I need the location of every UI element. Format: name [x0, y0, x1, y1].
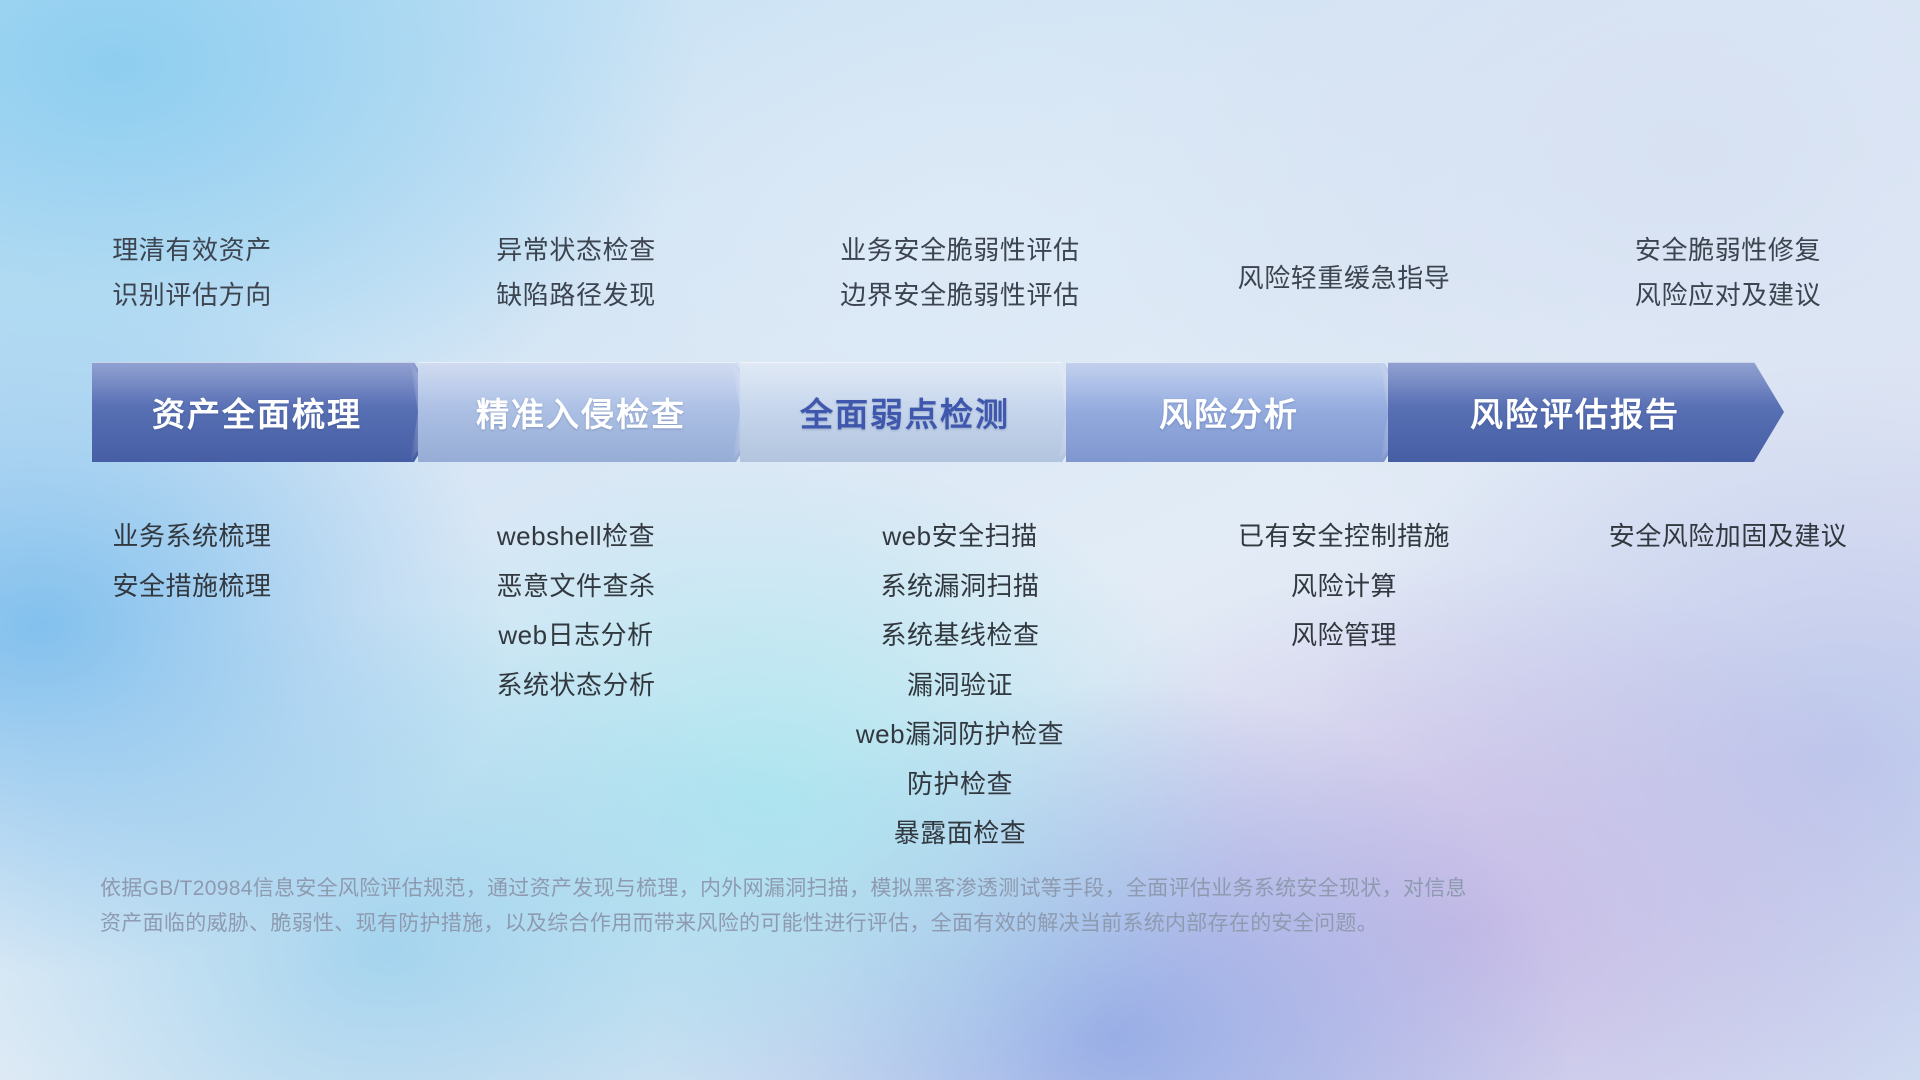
stage-chevron-risk-report[interactable]: 风险评估报告 [1388, 362, 1784, 462]
bottom-label: web安全扫描 [882, 520, 1037, 553]
bottom-label: 系统状态分析 [496, 669, 655, 702]
stage-title: 资产全面梳理 [152, 388, 384, 436]
stage-title: 精准入侵检查 [476, 388, 708, 436]
stage-title: 风险评估报告 [1470, 388, 1702, 436]
bottom-label: 系统基线检查 [880, 619, 1039, 652]
stage-chevron-weakness-detection[interactable]: 全面弱点检测 [740, 362, 1092, 462]
top-labels-stage-1: 理清有效资产 识别评估方向 [0, 228, 384, 358]
bottom-label: 防护检查 [907, 768, 1013, 801]
stage-title: 全面弱点检测 [800, 388, 1032, 436]
top-labels-row: 理清有效资产 识别评估方向 异常状态检查 缺陷路径发现 业务安全脆弱性评估 边界… [0, 228, 1920, 358]
bottom-label: 风险管理 [1291, 619, 1397, 652]
top-label: 异常状态检查 [496, 234, 656, 267]
bottom-labels-row: 业务系统梳理 安全措施梳理 webshell检查 恶意文件查杀 web日志分析 … [0, 500, 1920, 850]
top-label: 识别评估方向 [112, 279, 272, 312]
top-label: 理清有效资产 [112, 234, 272, 267]
process-flow-diagram: 理清有效资产 识别评估方向 异常状态检查 缺陷路径发现 业务安全脆弱性评估 边界… [0, 0, 1920, 1080]
bottom-label: 系统漏洞扫描 [880, 570, 1039, 603]
top-label: 业务安全脆弱性评估 [840, 234, 1079, 267]
stage-chevron-risk-analysis[interactable]: 风险分析 [1066, 362, 1414, 462]
bottom-label: 暴露面检查 [894, 817, 1027, 850]
stage-title: 风险分析 [1159, 388, 1321, 436]
top-label: 安全脆弱性修复 [1635, 234, 1821, 267]
bottom-labels-stage-4: 已有安全控制措施 风险计算 风险管理 [1152, 500, 1536, 652]
bottom-label: 安全措施梳理 [112, 570, 271, 603]
bottom-label: 业务系统梳理 [112, 520, 271, 553]
stage-chevron-asset-inventory[interactable]: 资产全面梳理 [92, 362, 444, 462]
top-label: 风险轻重缓急指导 [1238, 262, 1451, 295]
top-labels-stage-5: 安全脆弱性修复 风险应对及建议 [1536, 228, 1920, 358]
footer-line-2: 资产面临的威胁、脆弱性、现有防护措施，以及综合作用而带来风险的可能性进行评估，全… [100, 907, 1620, 942]
bottom-label: webshell检查 [497, 520, 655, 553]
bottom-label: 恶意文件查杀 [496, 570, 655, 603]
top-labels-stage-2: 异常状态检查 缺陷路径发现 [384, 228, 768, 358]
top-label: 缺陷路径发现 [496, 279, 656, 312]
top-label: 边界安全脆弱性评估 [840, 279, 1079, 312]
bottom-labels-stage-1: 业务系统梳理 安全措施梳理 [0, 500, 384, 602]
bottom-label: 安全风险加固及建议 [1609, 520, 1848, 553]
bottom-label: web漏洞防护检查 [856, 718, 1064, 751]
bottom-labels-stage-2: webshell检查 恶意文件查杀 web日志分析 系统状态分析 [384, 500, 768, 701]
top-label: 风险应对及建议 [1635, 279, 1821, 312]
bottom-labels-stage-5: 安全风险加固及建议 [1536, 500, 1920, 553]
bottom-label: 已有安全控制措施 [1238, 520, 1450, 553]
top-labels-stage-4: 风险轻重缓急指导 [1152, 228, 1536, 358]
stage-chevron-band: 资产全面梳理 精准入侵检查 全面弱点检测 风险分析 风险评估报告 [92, 362, 1854, 462]
top-labels-stage-3: 业务安全脆弱性评估 边界安全脆弱性评估 [768, 228, 1152, 358]
footer-line-1: 依据GB/T20984信息安全风险评估规范，通过资产发现与梳理，内外网漏洞扫描，… [100, 872, 1620, 907]
bottom-label: 漏洞验证 [907, 669, 1013, 702]
bottom-label: web日志分析 [498, 619, 653, 652]
bottom-labels-stage-3: web安全扫描 系统漏洞扫描 系统基线检查 漏洞验证 web漏洞防护检查 防护检… [768, 500, 1152, 850]
bottom-label: 风险计算 [1291, 570, 1397, 603]
stage-chevron-intrusion-check[interactable]: 精准入侵检查 [418, 362, 766, 462]
footer-description: 依据GB/T20984信息安全风险评估规范，通过资产发现与梳理，内外网漏洞扫描，… [100, 872, 1620, 941]
